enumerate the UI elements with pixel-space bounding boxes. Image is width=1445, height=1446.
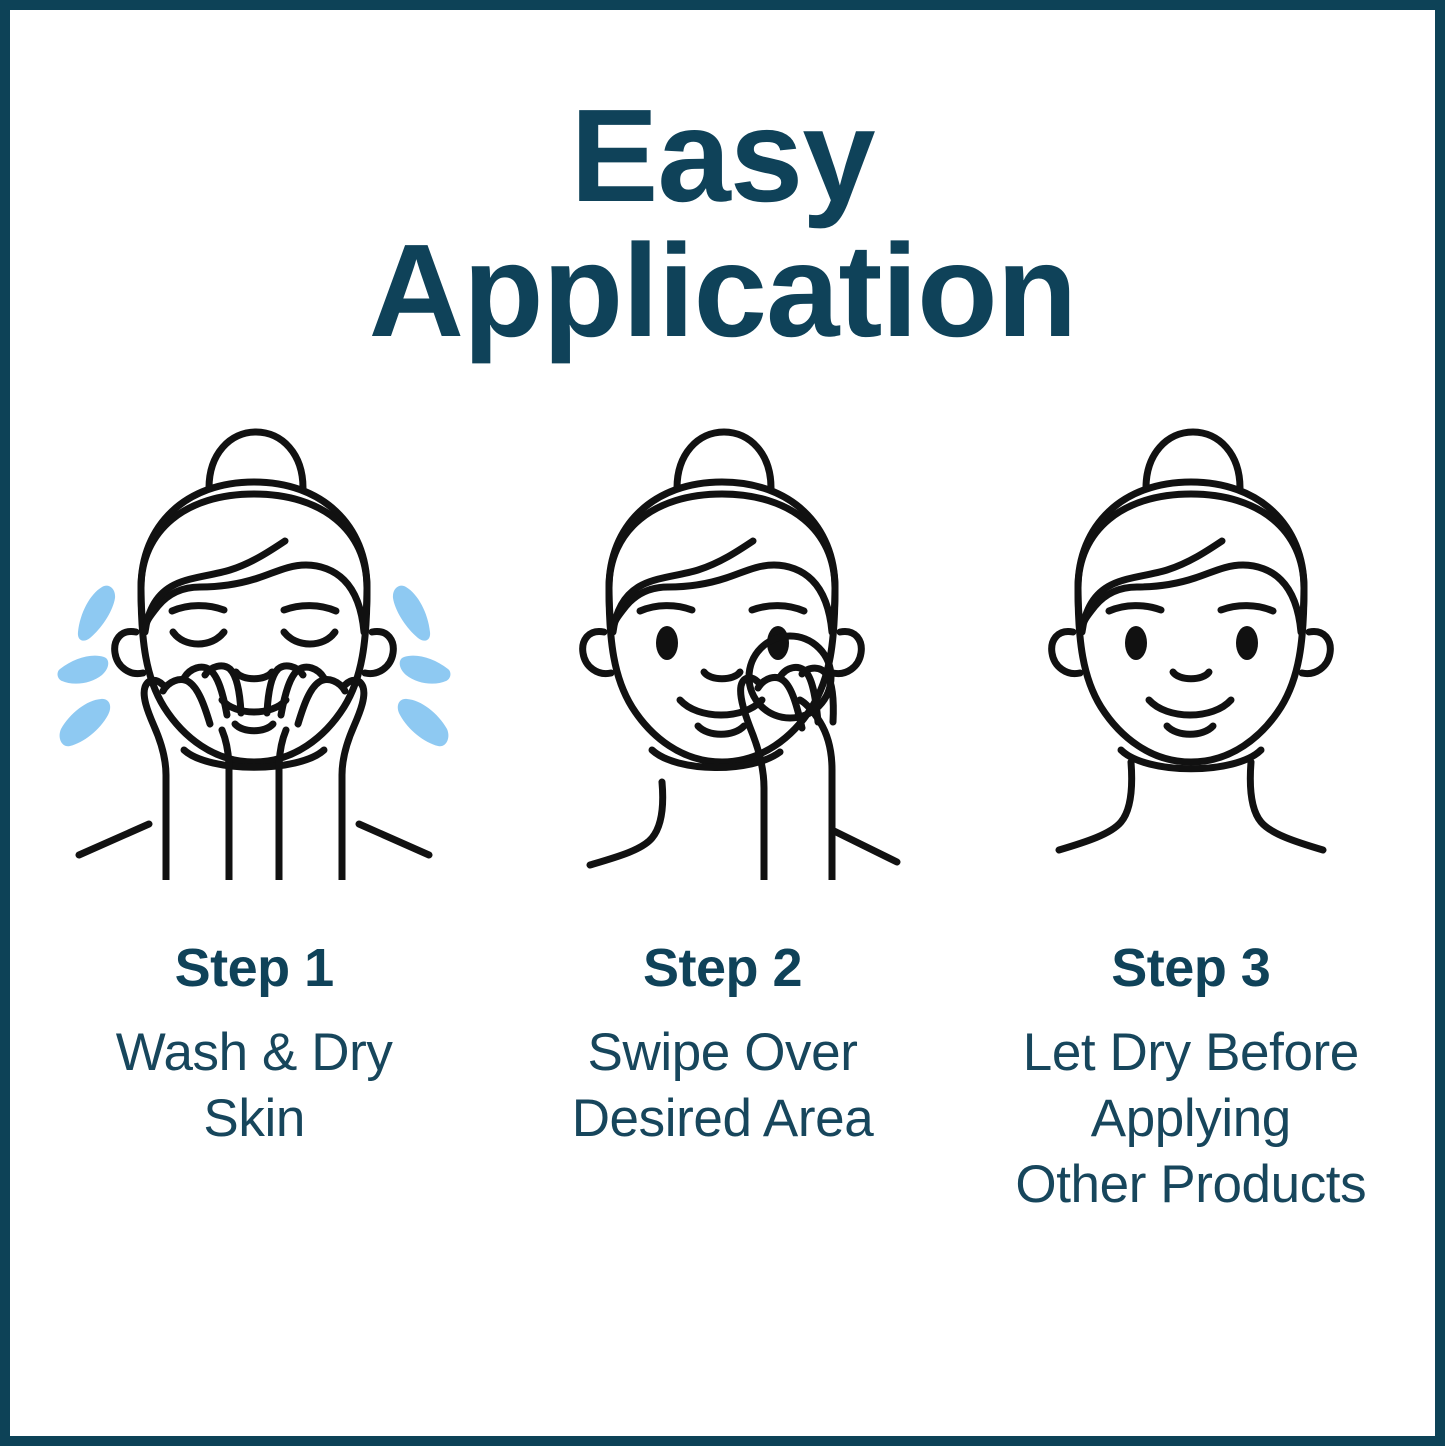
easy-application-infographic: Easy Application [0,0,1445,1446]
water-droplets-left-group [58,586,116,747]
face-outline-shape [1078,494,1304,762]
eye-left-shape [1125,626,1147,660]
page-title: Easy Application [10,88,1435,358]
mouth-upper-shape [222,700,286,712]
neck-left-line [590,782,663,865]
nose-shape [704,672,740,679]
step-3-title: Step 3 [1111,938,1270,998]
ear-right-shape [365,632,393,674]
eyebrow-right-shape [284,606,336,611]
steps-row: Step 1 Wash & Dry Skin [20,410,1425,1218]
nose-shape [1173,672,1209,679]
step-2-caption: Swipe Over Desired Area [572,1020,874,1152]
shoulder-right-line [359,824,429,855]
step-1-caption: Wash & Dry Skin [116,1020,393,1152]
eye-right-closed-shape [284,632,335,644]
woman-swiping-cotton-pad-icon [512,410,932,880]
eye-right-shape [1236,626,1258,660]
title-line-2: Application [10,223,1435,358]
eye-left-shape [656,626,678,660]
water-droplet-icon [393,586,430,641]
water-droplet-icon [58,656,109,684]
shoulder-left-line [79,824,149,855]
woman-washing-face-icon [44,410,464,880]
water-droplet-icon [398,699,449,746]
neck-right-line [1250,762,1323,850]
face-outline-shape [141,494,367,762]
mouth-lower-shape [1167,726,1213,734]
ear-left-shape [1052,632,1080,674]
step-3-caption: Let Dry Before Applying Other Products [1015,1020,1366,1218]
mouth-lower-shape [698,726,744,734]
step-card-2: Step 2 Swipe Over Desired Area [488,410,956,1152]
nose-shape [236,672,272,679]
title-line-1: Easy [10,88,1435,223]
step-card-1: Step 1 Wash & Dry Skin [20,410,488,1152]
shoulder-right-line [832,830,897,862]
eyebrow-right-shape [752,606,804,611]
ear-left-shape [583,632,611,674]
water-droplets-right-group [393,586,451,747]
eyebrow-left-shape [640,606,692,611]
mouth-lower-shape [235,724,273,731]
neck-left-line [1059,762,1132,850]
eyebrow-left-shape [1109,606,1161,611]
ear-right-shape [833,632,861,674]
mouth-upper-shape [680,700,762,715]
mouth-upper-shape [1149,700,1231,715]
step-1-title: Step 1 [175,938,334,998]
eyebrow-left-shape [172,606,224,611]
water-droplet-icon [400,656,451,684]
step-2-title: Step 2 [643,938,802,998]
eyebrow-right-shape [1221,606,1273,611]
woman-smiling-face-icon [981,410,1401,880]
step-card-3: Step 3 Let Dry Before Applying Other Pro… [957,410,1425,1218]
ear-left-shape [115,632,143,674]
water-droplet-icon [60,699,111,746]
water-droplet-icon [78,586,115,641]
eye-left-closed-shape [173,632,224,644]
ear-right-shape [1302,632,1330,674]
